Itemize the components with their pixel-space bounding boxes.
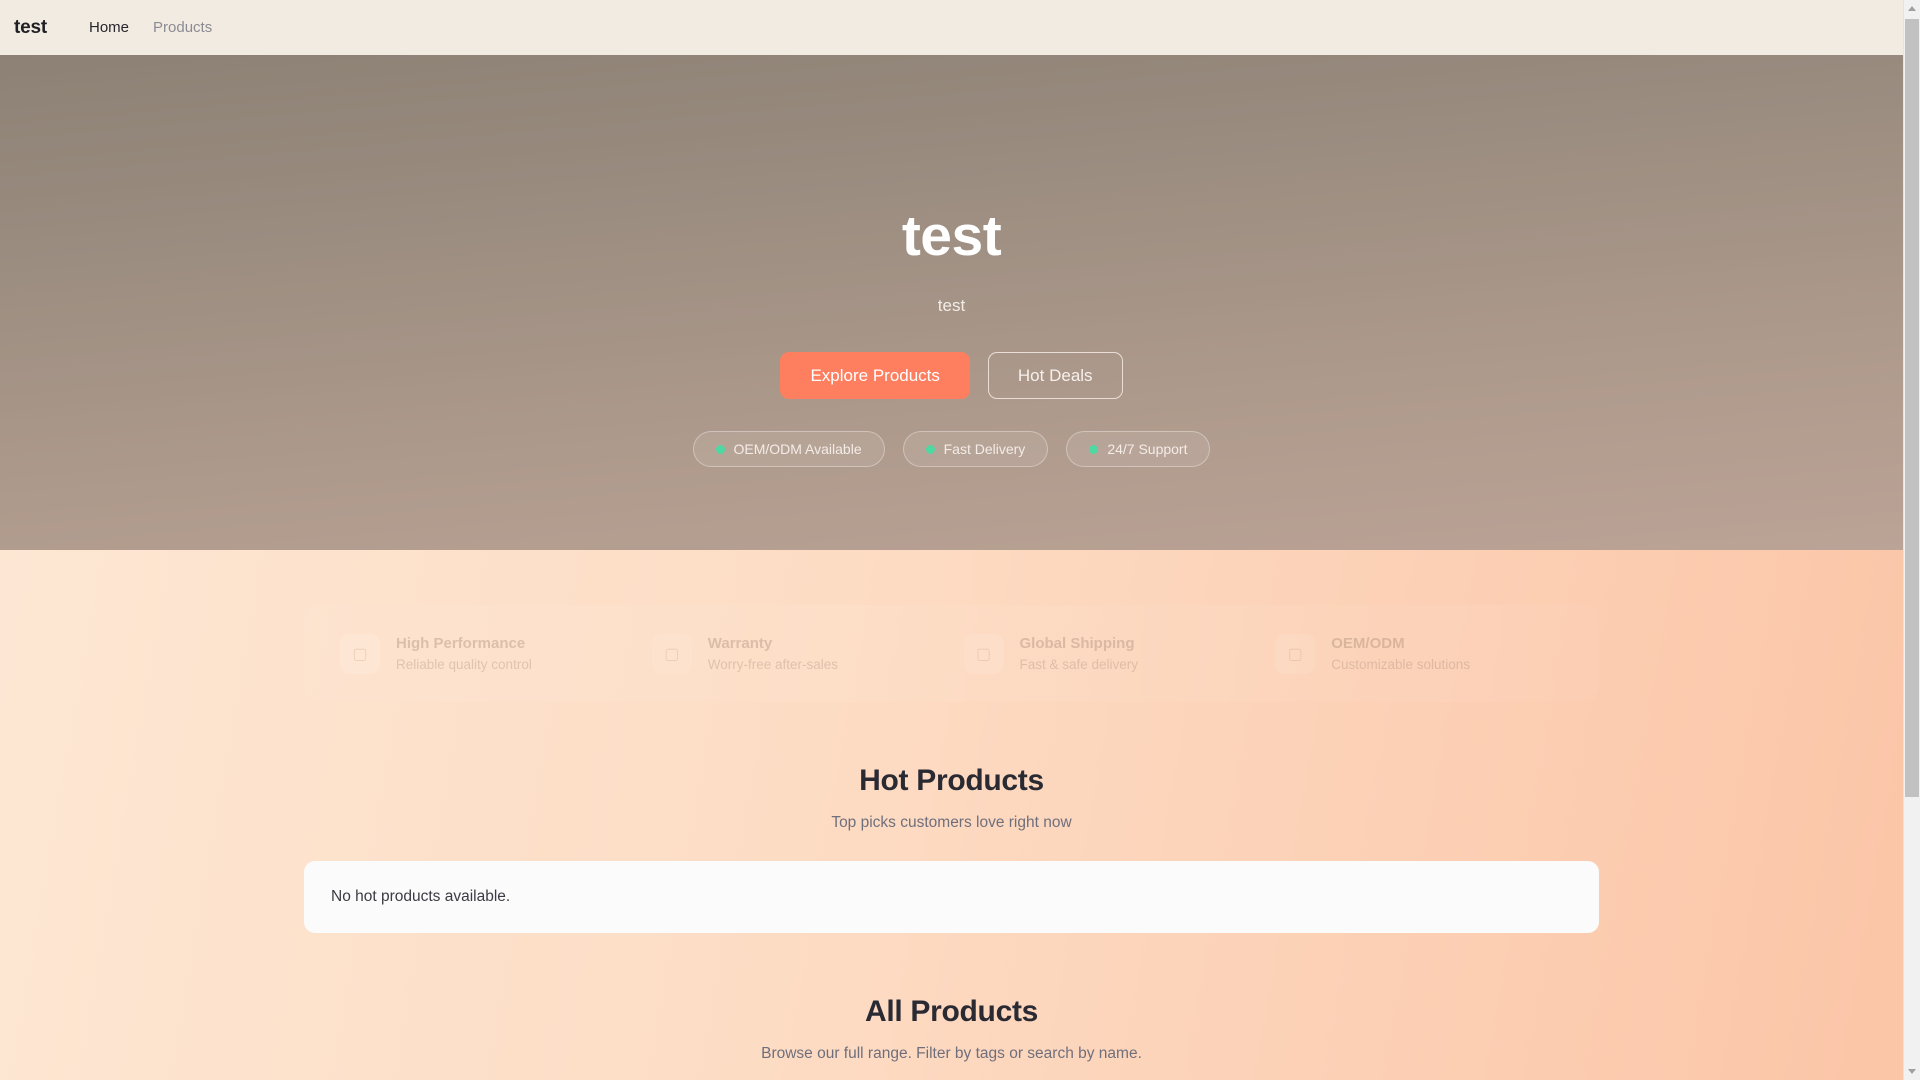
hot-products-empty-card: No hot products available. [304,861,1599,933]
all-products-title: All Products [304,995,1599,1029]
feature-title: High Performance [396,633,532,655]
badge-fast-delivery: Fast Delivery [903,431,1049,467]
hero-badges: OEM/ODM Available Fast Delivery 24/7 Sup… [693,431,1211,467]
hot-products-subtitle: Top picks customers love right now [304,814,1599,832]
badge-label: 24/7 Support [1107,441,1187,457]
performance-icon: ▢ [340,634,380,674]
hero-section: test test Explore Products Hot Deals OEM… [0,55,1903,550]
features-wrap: ▢ High Performance Reliable quality cont… [304,550,1599,702]
bottom-spacer [304,1063,1599,1080]
shipping-icon: ▢ [964,634,1004,674]
caret-up-icon [1908,6,1916,11]
scrollbar-up-button[interactable] [1904,0,1920,17]
page-scrollbar[interactable] [1903,0,1920,1080]
feature-desc: Worry-free after-sales [708,655,838,675]
badge-label: Fast Delivery [944,441,1026,457]
badge-label: OEM/ODM Available [734,441,862,457]
nav-link-products[interactable]: Products [153,19,212,36]
brand-logo[interactable]: test [14,17,47,39]
caret-down-icon [1908,1069,1916,1074]
scrollbar-down-button[interactable] [1904,1063,1920,1080]
explore-products-button[interactable]: Explore Products [780,352,969,400]
hot-products-title: Hot Products [304,764,1599,798]
nav-link-home[interactable]: Home [89,19,129,36]
hot-deals-button[interactable]: Hot Deals [988,352,1123,400]
feature-global-shipping: ▢ Global Shipping Fast & safe delivery [952,627,1264,680]
status-dot-icon [716,445,725,454]
feature-warranty: ▢ Warranty Worry-free after-sales [640,627,952,680]
browser-viewport: test Home Products test test Explore Pro… [0,0,1920,1080]
nav-links: Home Products [89,19,212,36]
hero-actions: Explore Products Hot Deals [780,352,1122,400]
status-dot-icon [926,445,935,454]
hero-subtitle: test [938,296,965,316]
hot-products-section: Hot Products Top picks customers love ri… [304,702,1599,933]
feature-title: OEM/ODM [1331,633,1470,655]
all-products-section: All Products Browse our full range. Filt… [304,933,1599,1063]
scrollbar-thumb[interactable] [1905,19,1919,797]
feature-desc: Customizable solutions [1331,655,1470,675]
feature-text: Warranty Worry-free after-sales [708,633,838,674]
features-container: ▢ High Performance Reliable quality cont… [304,550,1599,1080]
feature-title: Global Shipping [1020,633,1139,655]
feature-text: OEM/ODM Customizable solutions [1331,633,1470,674]
navbar: test Home Products [0,0,1903,55]
warranty-icon: ▢ [652,634,692,674]
oem-odm-icon: ▢ [1275,634,1315,674]
feature-desc: Reliable quality control [396,655,532,675]
feature-high-performance: ▢ High Performance Reliable quality cont… [328,627,640,680]
feature-desc: Fast & safe delivery [1020,655,1139,675]
empty-state-message: No hot products available. [331,888,510,905]
badge-oem-odm: OEM/ODM Available [693,431,885,467]
feature-title: Warranty [708,633,838,655]
features-strip: ▢ High Performance Reliable quality cont… [304,605,1599,702]
status-dot-icon [1089,445,1098,454]
feature-oem-odm: ▢ OEM/ODM Customizable solutions [1263,627,1575,680]
all-products-subtitle: Browse our full range. Filter by tags or… [304,1045,1599,1063]
feature-text: Global Shipping Fast & safe delivery [1020,633,1139,674]
hero-title: test [902,205,1001,268]
badge-support: 24/7 Support [1066,431,1210,467]
page-content: test Home Products test test Explore Pro… [0,0,1903,1080]
feature-text: High Performance Reliable quality contro… [396,633,532,674]
